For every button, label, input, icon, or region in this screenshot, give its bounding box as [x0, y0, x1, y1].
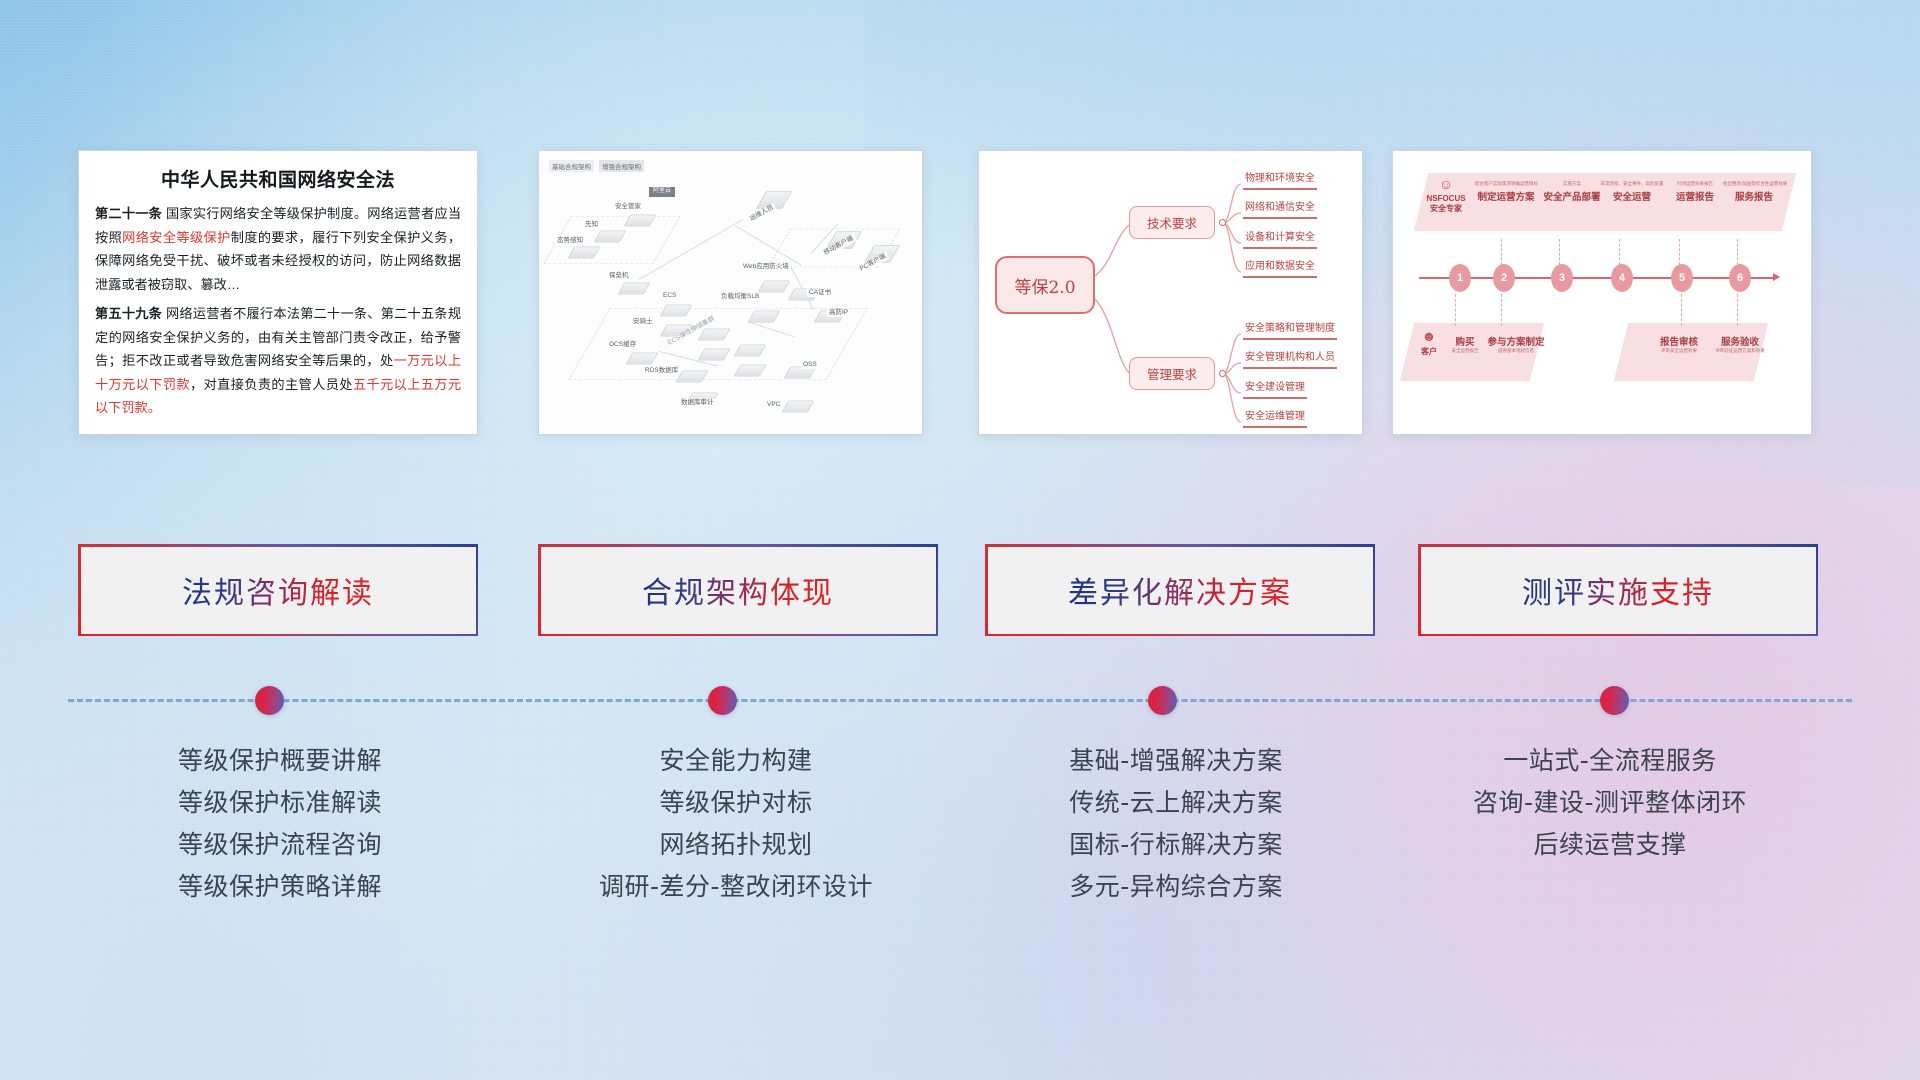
mindmap-leaf-mgmt-1: 安全管理机构和人员 — [1243, 352, 1337, 369]
person-star-icon: ☺ — [1419, 177, 1473, 191]
feature-item: 网络拓扑规划 — [516, 824, 956, 866]
arch-label-gaofangip: 高防IP — [827, 309, 850, 317]
arch-label-waf: Web应用防火墙 — [741, 263, 791, 271]
nsfocus-top-step-2-main: 安全产品部署 — [1541, 189, 1603, 203]
mindmap-leaf-tech-3: 应用和数据安全 — [1243, 261, 1317, 278]
feature-item: 基础-增强解决方案 — [956, 740, 1396, 782]
slide-stage: 中华人民共和国网络安全法 第二十一条 国家实行网络安全等级保护制度。网络运营者应… — [0, 0, 1920, 1080]
feature-item: 一站式-全流程服务 — [1390, 740, 1830, 782]
nsfocus-axis-arrow-icon — [1773, 273, 1780, 281]
mindmap-branch-technical: 技术要求 — [1129, 206, 1215, 239]
title-box-compliance-architecture[interactable]: 合规架构体现 — [538, 544, 938, 636]
law-article-21: 第二十一条 国家实行网络安全等级保护制度。网络运营者应当按照网络安全等级保护制度… — [95, 202, 461, 296]
mindmap-leaf-tech-2: 设备和计算安全 — [1243, 232, 1317, 249]
feature-item: 等级保护对标 — [516, 782, 956, 824]
nsfocus-flow: ☺ NSFOCUS 安全专家 结合客户实际需求明确运营目标 制定运营方案 实施方… — [1393, 151, 1811, 434]
title-label-3: 差异化解决方案 — [1068, 568, 1292, 612]
nsfocus-bottom-step-1-main: 购买 — [1443, 334, 1487, 348]
arch-tab-basic[interactable]: 基础合规架构 — [549, 160, 594, 172]
nsfocus-top-step-5: 给出整改/加固等综合性运营效果 服务报告 — [1723, 181, 1785, 203]
nsfocus-bottom-step-2: 参与方案制定 提供基本现状信息 — [1485, 331, 1547, 353]
timeline-dot-3[interactable] — [1148, 686, 1177, 715]
arch-label-rds: RDS数据库 — [643, 367, 680, 375]
nsfocus-bottom-step-3-sub: 评审安全运营效果 — [1651, 348, 1707, 353]
nsfocus-top-step-1-main: 制定运营方案 — [1475, 189, 1537, 203]
mindmap-leaf-mgmt-0: 安全策略和管理制度 — [1243, 323, 1337, 340]
arch-label-taishiganzhi: 态势感知 — [555, 237, 585, 245]
law-title: 中华人民共和国网络安全法 — [95, 165, 461, 192]
feature-item: 安全能力构建 — [516, 740, 956, 782]
law-article-59-label: 第五十九条 — [95, 306, 162, 321]
nsfocus-top-step-3-sub: 日常巡检、安全事件、高危处置 — [1599, 181, 1665, 186]
architecture-diagram: 基础合规架构 增强合规架构 阿里云 安全管家 先知 — [539, 151, 922, 434]
mindmap-root: 等保2.0 — [995, 256, 1095, 314]
nsfocus-top-step-2: 实施方案 安全产品部署 — [1541, 181, 1603, 203]
nsfocus-top-step-4-sub: 针对运营效果报告 — [1667, 181, 1723, 186]
nsfocus-node-4[interactable]: 4 — [1611, 264, 1633, 292]
timeline-dot-1[interactable] — [255, 686, 284, 715]
title-label-4: 测评实施支持 — [1522, 568, 1714, 612]
feature-column-1: 等级保护概要讲解 等级保护标准解读 等级保护流程咨询 等级保护策略详解 — [60, 740, 500, 908]
nsfocus-node-1[interactable]: 1 — [1449, 264, 1471, 292]
mindmap-leaf-mgmt-2: 安全建设管理 — [1243, 382, 1307, 399]
mindmap-leaf-tech-0: 物理和环境安全 — [1243, 173, 1317, 190]
arch-label-baoleiji: 保垒机 — [607, 272, 631, 280]
feature-column-2: 安全能力构建 等级保护对标 网络拓扑规划 调研-差分-整改闭环设计 — [516, 740, 956, 908]
nsfocus-top-step-5-main: 服务报告 — [1723, 189, 1785, 203]
arch-tab-enhanced[interactable]: 增强合规架构 — [599, 160, 644, 172]
nsfocus-top-step-3: 日常巡检、安全事件、高危处置 安全运营 — [1599, 181, 1665, 203]
feature-item: 等级保护标准解读 — [60, 782, 500, 824]
nsfocus-node-5[interactable]: 5 — [1671, 264, 1693, 292]
card-cloud-architecture[interactable]: 基础合规架构 增强合规架构 阿里云 安全管家 先知 — [538, 150, 923, 435]
feature-column-3: 基础-增强解决方案 传统-云上解决方案 国标-行标解决方案 多元-异构综合方案 — [956, 740, 1396, 908]
arch-label-vpc: VPC — [765, 401, 782, 409]
mindmap-leaf-tech-1: 网络和通信安全 — [1243, 202, 1317, 219]
law-inner: 中华人民共和国网络安全法 第二十一条 国家实行网络安全等级保护制度。网络运营者应… — [79, 151, 477, 428]
timeline-dot-2[interactable] — [708, 686, 737, 715]
timeline — [0, 680, 1920, 720]
arch-label-ca: CA证书 — [807, 289, 833, 297]
timeline-dashed-line — [68, 699, 1852, 702]
feature-item: 传统-云上解决方案 — [956, 782, 1396, 824]
nsfocus-top-step-1-sub: 结合客户实际需求明确运营目标 — [1475, 181, 1537, 186]
arch-label-ecs: ECS — [661, 292, 678, 300]
feature-item: 等级保护概要讲解 — [60, 740, 500, 782]
arch-label-dbaudit: 数据库审计 — [679, 399, 716, 407]
nsfocus-top-step-2-sub: 实施方案 — [1541, 181, 1603, 186]
nsfocus-bottom-step-4: 服务验收 评审验证运营方案和效果 — [1711, 331, 1769, 353]
nsfocus-bottom-step-3: 报告审核 评审安全运营效果 — [1651, 331, 1707, 353]
nsfocus-bottom-step-2-main: 参与方案制定 — [1485, 334, 1547, 348]
arch-label-slb: 负载均衡SLB — [719, 293, 761, 301]
arch-label-anqishi: 安骑士 — [631, 318, 655, 326]
title-label-1: 法规咨询解读 — [182, 568, 374, 612]
feature-item: 调研-差分-整改闭环设计 — [516, 866, 956, 908]
nsfocus-top-step-4: 针对运营效果报告 运营报告 — [1667, 181, 1723, 203]
mindmap-collapse-dot-management[interactable] — [1219, 370, 1226, 377]
arch-label-oss: OSS — [801, 361, 819, 369]
titles-row: 法规咨询解读 合规架构体现 差异化解决方案 测评实施支持 — [0, 544, 1920, 644]
nsfocus-bottom-step-4-main: 服务验收 — [1711, 334, 1769, 348]
law-article-21-label: 第二十一条 — [95, 206, 162, 221]
law-article-59: 第五十九条 网络运营者不履行本法第二十一条、第二十五条规定的网络安全保护义务的，… — [95, 302, 461, 420]
nsfocus-bottom-step-2-sub: 提供基本现状信息 — [1485, 348, 1547, 353]
arch-label-ocs: OCS缓存 — [607, 341, 638, 349]
arch-label-xianzhi: 先知 — [583, 221, 600, 229]
nsfocus-expert-role: 安全专家 — [1419, 203, 1473, 214]
card-mindmap-dengbao[interactable]: 等保2.0 技术要求 物理和环境安全 网络和通信安全 设备和计算安全 应用和数据… — [978, 150, 1363, 435]
nsfocus-brand: NSFOCUS — [1419, 194, 1473, 203]
nsfocus-expert-identity: ☺ NSFOCUS 安全专家 — [1419, 177, 1473, 214]
nsfocus-node-3[interactable]: 3 — [1551, 264, 1573, 292]
nsfocus-node-2[interactable]: 2 — [1493, 264, 1515, 292]
feature-item: 等级保护流程咨询 — [60, 824, 500, 866]
feature-column-4: 一站式-全流程服务 咨询-建设-测评整体闭环 后续运营支撑 — [1390, 740, 1830, 866]
nsfocus-bottom-step-4-sub: 评审验证运营方案和效果 — [1711, 348, 1769, 353]
card-law-text[interactable]: 中华人民共和国网络安全法 第二十一条 国家实行网络安全等级保护制度。网络运营者应… — [78, 150, 478, 435]
mindmap-collapse-dot-technical[interactable] — [1219, 219, 1226, 226]
nsfocus-top-step-3-main: 安全运营 — [1599, 189, 1665, 203]
title-box-regulation-consulting[interactable]: 法规咨询解读 — [78, 544, 478, 636]
nsfocus-top-step-4-main: 运营报告 — [1667, 189, 1723, 203]
feature-item: 多元-异构综合方案 — [956, 866, 1396, 908]
nsfocus-bottom-step-1: 购买 安全运营报告 — [1443, 331, 1487, 353]
title-box-evaluation-support[interactable]: 测评实施支持 — [1418, 544, 1818, 636]
nsfocus-node-6[interactable]: 6 — [1729, 264, 1751, 292]
title-label-2: 合规架构体现 — [642, 568, 834, 612]
law-59-p2: ，对直接负责的主管人员处 — [190, 377, 353, 392]
feature-item: 后续运营支撑 — [1390, 824, 1830, 866]
feature-item: 咨询-建设-测评整体闭环 — [1390, 782, 1830, 824]
feature-item: 等级保护策略详解 — [60, 866, 500, 908]
nsfocus-top-step-5-sub: 给出整改/加固等综合性运营效果 — [1723, 181, 1785, 186]
feature-lists-row: 等级保护概要讲解 等级保护标准解读 等级保护流程咨询 等级保护策略详解 安全能力… — [0, 740, 1920, 970]
arch-label-anquanguanjia: 安全管家 — [613, 203, 643, 211]
mindmap: 等保2.0 技术要求 物理和环境安全 网络和通信安全 设备和计算安全 应用和数据… — [979, 151, 1362, 434]
nsfocus-axis — [1419, 277, 1775, 279]
title-box-differentiated-solution[interactable]: 差异化解决方案 — [985, 544, 1375, 636]
law-21-p1: 网络安全等级保护 — [122, 230, 231, 245]
timeline-dot-4[interactable] — [1600, 686, 1629, 715]
arch-label-cloud: 阿里云 — [649, 187, 675, 197]
cards-row: 中华人民共和国网络安全法 第二十一条 国家实行网络安全等级保护制度。网络运营者应… — [0, 150, 1920, 440]
mindmap-branch-management: 管理要求 — [1129, 357, 1215, 390]
nsfocus-bottom-step-1-sub: 安全运营报告 — [1443, 348, 1487, 353]
feature-item: 国标-行标解决方案 — [956, 824, 1396, 866]
nsfocus-top-step-1: 结合客户实际需求明确运营目标 制定运营方案 — [1475, 181, 1537, 203]
card-nsfocus-service-flow[interactable]: ☺ NSFOCUS 安全专家 结合客户实际需求明确运营目标 制定运营方案 实施方… — [1392, 150, 1812, 435]
mindmap-leaf-mgmt-3: 安全运维管理 — [1243, 411, 1307, 428]
nsfocus-bottom-step-3-main: 报告审核 — [1651, 334, 1707, 348]
